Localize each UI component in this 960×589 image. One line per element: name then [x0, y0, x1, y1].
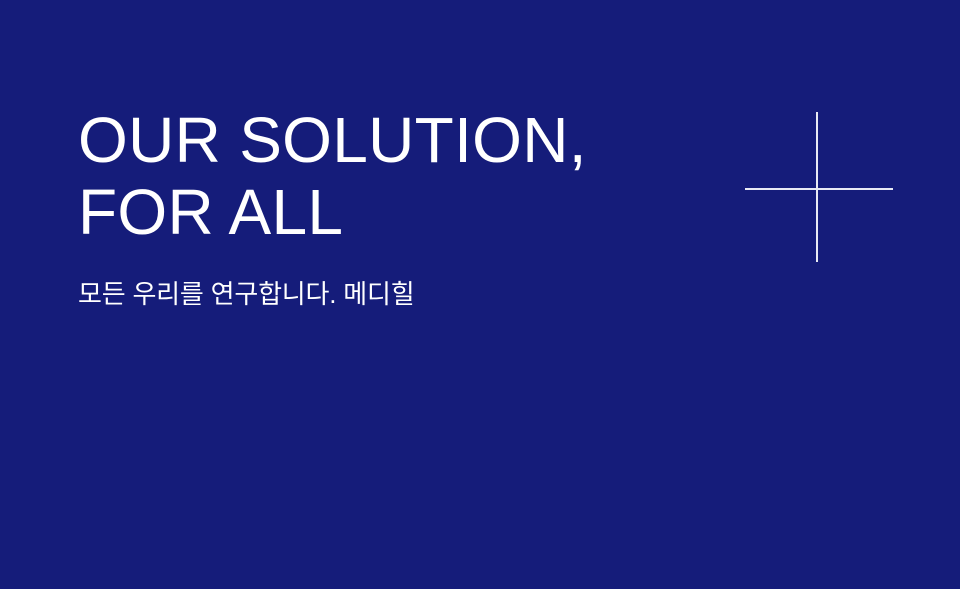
title-slide: OUR SOLUTION, FOR ALL 모든 우리를 연구합니다. 메디힐: [0, 0, 960, 589]
cross-horizontal-bar: [745, 188, 893, 190]
page-title: OUR SOLUTION, FOR ALL: [78, 104, 587, 248]
cross-vertical-bar: [816, 112, 818, 262]
page-title-line-2: FOR ALL: [78, 176, 587, 248]
subtitle: 모든 우리를 연구합니다. 메디힐: [78, 277, 414, 311]
plus-cross-mark-icon: [745, 112, 893, 262]
page-title-line-1: OUR SOLUTION,: [78, 104, 587, 176]
